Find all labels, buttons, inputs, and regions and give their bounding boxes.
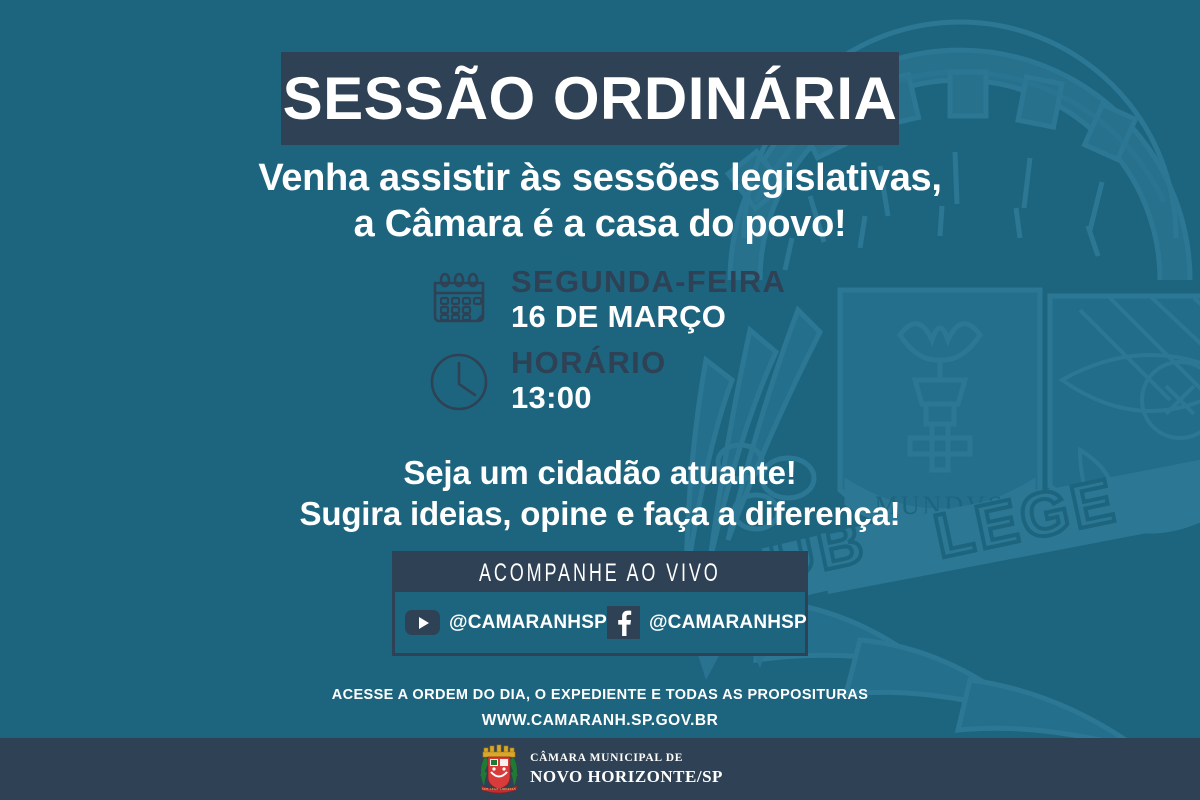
title-banner: SESSÃO ORDINÁRIA	[281, 52, 899, 145]
access-info: ACESSE A ORDEM DO DIA, O EXPEDIENTE E TO…	[0, 683, 1200, 735]
facebook-icon[interactable]	[607, 606, 640, 639]
youtube-channel[interactable]: @CAMARANHSP	[405, 610, 607, 635]
subtitle-line-2: a Câmara é a casa do povo!	[0, 201, 1200, 247]
youtube-icon[interactable]	[405, 610, 440, 635]
date-value: 16 DE MARÇO	[511, 299, 786, 336]
call-to-action: Seja um cidadão atuante! Sugira ideias, …	[0, 452, 1200, 535]
message-line-2: Sugira ideias, opine e faça a diferença!	[0, 493, 1200, 534]
live-box-header: ACOMPANHE AO VIVO	[395, 554, 805, 592]
page-title: SESSÃO ORDINÁRIA	[283, 69, 898, 129]
access-line-1: ACESSE A ORDEM DO DIA, O EXPEDIENTE E TO…	[0, 683, 1200, 708]
clock-icon	[425, 348, 493, 416]
time-value: 13:00	[511, 380, 667, 417]
subtitle: Venha assistir às sessões legislativas, …	[0, 155, 1200, 248]
date-row: SEGUNDA-FEIRA 16 DE MARÇO	[425, 266, 905, 335]
facebook-channel[interactable]: @CAMARANHSP	[607, 606, 807, 639]
svg-text:SUB LEGE LIBERTAS: SUB LEGE LIBERTAS	[482, 787, 516, 791]
live-box-body: @CAMARANHSP @CAMARANHSP	[395, 592, 805, 653]
footer-bar: SUB LEGE LIBERTAS CÂMARA MUNICIPAL DE NO…	[0, 738, 1200, 800]
youtube-handle[interactable]: @CAMARANHSP	[449, 612, 607, 634]
time-row: HORÁRIO 13:00	[425, 347, 905, 416]
date-label: SEGUNDA-FEIRA	[511, 266, 786, 299]
subtitle-line-1: Venha assistir às sessões legislativas,	[0, 155, 1200, 201]
website-url[interactable]: WWW.CAMARANH.SP.GOV.BR	[0, 708, 1200, 735]
live-header-label: ACOMPANHE AO VIVO	[479, 559, 721, 588]
poster-canvas: MUNDVS	[0, 0, 1200, 800]
message-line-1: Seja um cidadão atuante!	[0, 452, 1200, 493]
time-label: HORÁRIO	[511, 347, 667, 380]
coat-of-arms-icon: SUB LEGE LIBERTAS	[477, 744, 521, 794]
live-stream-box: ACOMPANHE AO VIVO @CAMARANHSP @CAMARANHS…	[392, 551, 808, 656]
facebook-handle[interactable]: @CAMARANHSP	[649, 612, 807, 634]
calendar-icon	[425, 267, 493, 335]
footer-line-1: CÂMARA MUNICIPAL DE	[530, 753, 723, 765]
event-details: SEGUNDA-FEIRA 16 DE MARÇO HORÁRIO 13:00	[425, 266, 905, 429]
footer-line-2: NOVO HORIZONTE/SP	[530, 768, 723, 785]
